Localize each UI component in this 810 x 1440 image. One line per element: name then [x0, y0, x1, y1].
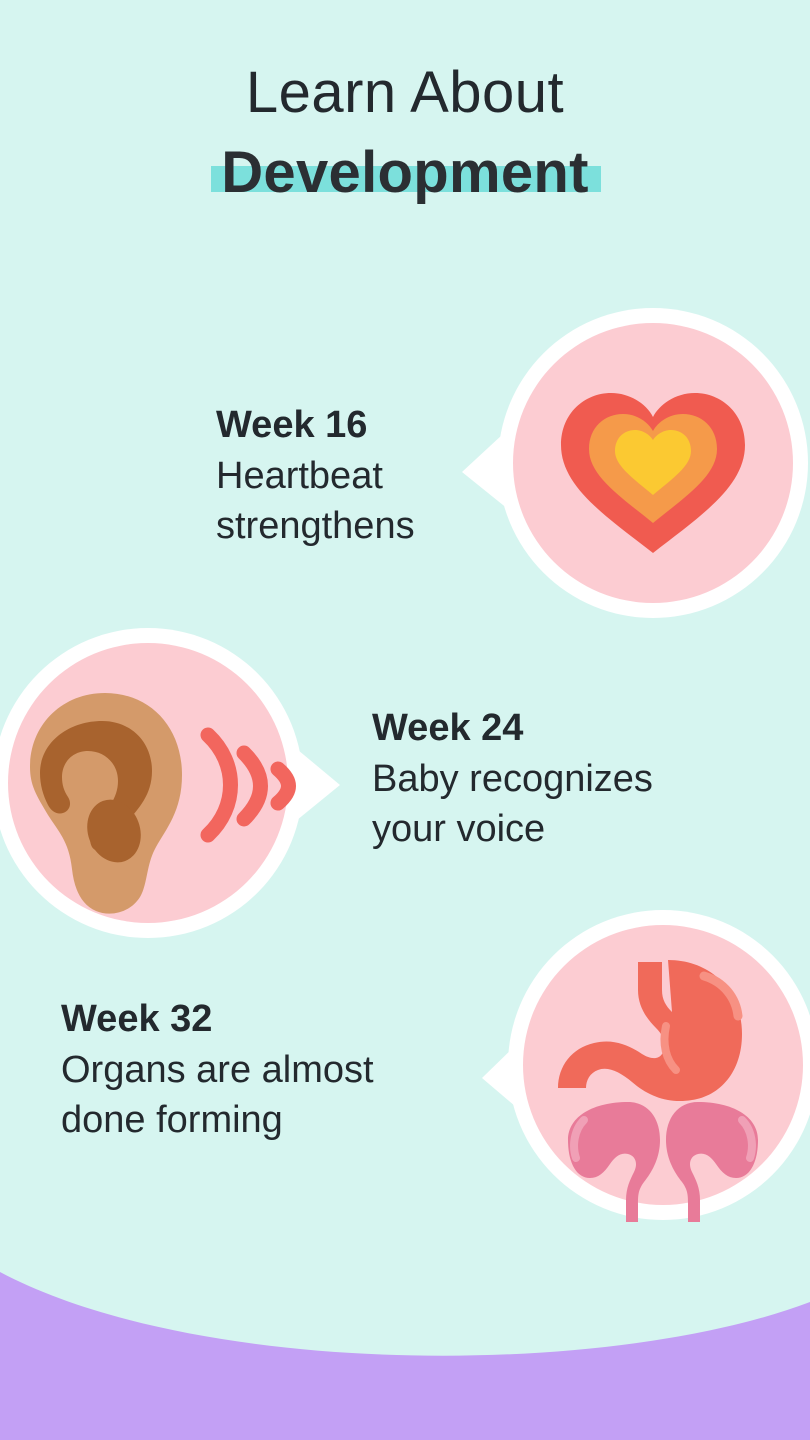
fact-description: Organs are almost done forming: [61, 1045, 374, 1146]
fact-description-line: Heartbeat: [216, 451, 415, 502]
fact-week-label: Week 24: [372, 703, 653, 754]
fact-bubble-heart[interactable]: [455, 305, 810, 625]
bottom-wave-decoration: [0, 1240, 810, 1440]
fact-bubble-organs[interactable]: [480, 900, 810, 1230]
fact-bubble-ear[interactable]: [0, 625, 350, 945]
title-line-2-wrapper: Development: [221, 144, 589, 202]
title-line-2: Development: [221, 144, 589, 202]
fact-description-line: Organs are almost: [61, 1045, 374, 1096]
page-title: Learn About Development: [0, 64, 810, 202]
fact-text-week-24: Week 24 Baby recognizes your voice: [372, 703, 653, 855]
fact-text-week-32: Week 32 Organs are almost done forming: [61, 994, 374, 1146]
fact-description-line: strengthens: [216, 501, 415, 552]
fact-description-line: your voice: [372, 804, 653, 855]
fact-description: Heartbeat strengthens: [216, 451, 415, 552]
fact-description-line: done forming: [61, 1095, 374, 1146]
fact-week-label: Week 32: [61, 994, 374, 1045]
learn-about-development-poster: Learn About Development Week 16: [0, 0, 810, 1440]
fact-description-line: Baby recognizes: [372, 754, 653, 805]
fact-description: Baby recognizes your voice: [372, 754, 653, 855]
title-line-1: Learn About: [0, 64, 810, 122]
fact-week-label: Week 16: [216, 400, 415, 451]
fact-text-week-16: Week 16 Heartbeat strengthens: [216, 400, 415, 552]
